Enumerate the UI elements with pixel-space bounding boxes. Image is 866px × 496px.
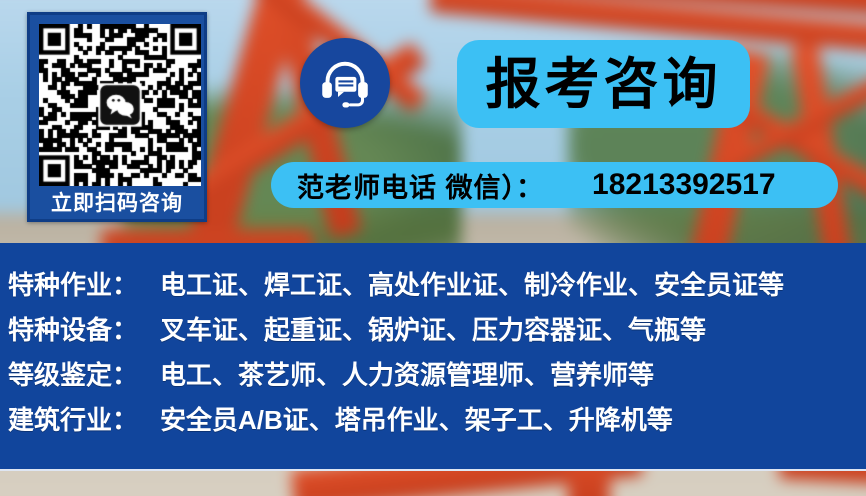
qr-code-image[interactable]	[39, 24, 201, 186]
qr-card-caption: 立即扫码咨询	[39, 186, 195, 222]
category-row: 特种设备： 叉车证、起重证、锅炉证、压力容器证、气瓶等	[8, 310, 866, 355]
category-row: 等级鉴定： 电工、茶艺师、人力资源管理师、营养师等	[8, 355, 866, 400]
page-title: 报考咨询	[485, 57, 721, 112]
category-value: 叉车证、起重证、锅炉证、压力容器证、气瓶等	[160, 310, 706, 347]
promo-poster: 立即扫码咨询 报考咨询 范老师电话 微信）： 18213392517 特种作业：…	[0, 0, 866, 496]
qr-code-canvas	[39, 24, 201, 186]
category-value: 电工、茶艺师、人力资源管理师、营养师等	[160, 355, 654, 392]
category-label: 建筑行业：	[8, 400, 160, 437]
contact-label: 范老师电话 微信）：	[297, 166, 544, 205]
category-list-panel: 特种作业： 电工证、焊工证、高处作业证、制冷作业、安全员证等 特种设备： 叉车证…	[0, 243, 866, 469]
category-label: 等级鉴定：	[8, 355, 160, 392]
qr-code-card[interactable]: 立即扫码咨询	[27, 12, 207, 222]
category-label: 特种设备：	[8, 310, 160, 347]
title-badge: 报考咨询	[457, 40, 750, 128]
panel-bottom-divider	[0, 469, 866, 471]
category-label: 特种作业：	[8, 265, 160, 302]
contact-phone-number[interactable]: 18213392517	[592, 168, 776, 202]
contact-banner[interactable]: 范老师电话 微信）： 18213392517	[271, 162, 838, 208]
category-row: 特种作业： 电工证、焊工证、高处作业证、制冷作业、安全员证等	[8, 265, 866, 310]
category-value: 电工证、焊工证、高处作业证、制冷作业、安全员证等	[160, 265, 784, 302]
headset-support-icon	[300, 38, 390, 128]
category-value: 安全员A/B证、塔吊作业、架子工、升降机等	[160, 400, 673, 437]
category-row: 建筑行业： 安全员A/B证、塔吊作业、架子工、升降机等	[8, 400, 866, 445]
